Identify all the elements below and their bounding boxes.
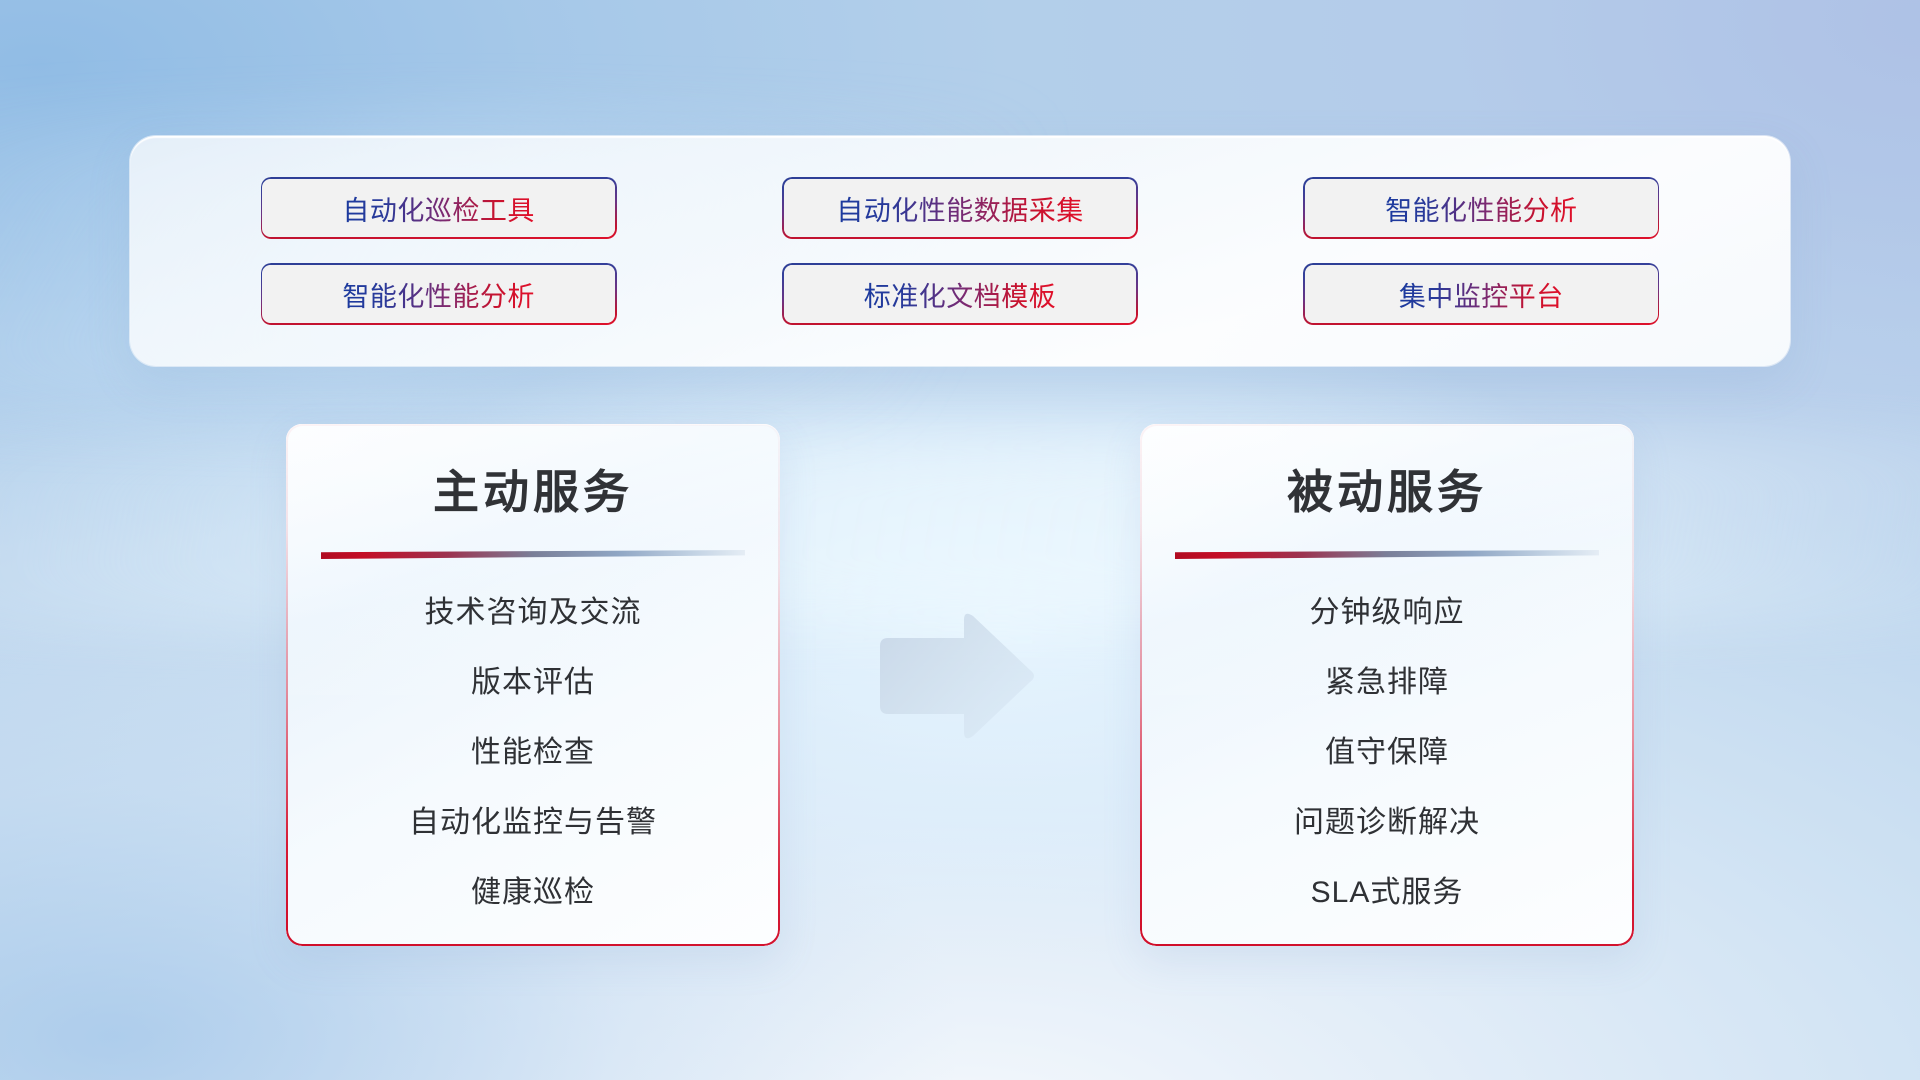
capability-pill-label: 智能化性能分析 [342, 275, 535, 314]
capability-pill[interactable]: 自动化性能数据采集 [782, 177, 1138, 239]
capability-pill[interactable]: 智能化性能分析 [1303, 177, 1659, 239]
capability-pill[interactable]: 标准化文档模板 [782, 263, 1138, 325]
capability-pill[interactable]: 自动化巡检工具 [261, 177, 617, 239]
capabilities-panel: 自动化巡检工具 智能化性能分析 自动化性能数据采集 标准化文档模板 智能化性能分… [130, 136, 1790, 366]
card-list-item: 自动化监控与告警 [409, 797, 657, 841]
card-title: 主动服务 [286, 456, 780, 522]
card-list-item: 技术咨询及交流 [425, 587, 642, 631]
card-list-item: SLA式服务 [1311, 867, 1464, 911]
card-list-item: 健康巡检 [471, 867, 595, 911]
card-list-item: 值守保障 [1325, 727, 1449, 771]
capability-pill-label: 智能化性能分析 [1385, 189, 1578, 228]
card-title: 被动服务 [1140, 456, 1634, 522]
capability-pill[interactable]: 集中监控平台 [1303, 263, 1659, 325]
card-list-item: 紧急排障 [1325, 657, 1449, 701]
arrow-right-icon [872, 608, 1038, 744]
card-divider [1175, 550, 1599, 559]
capabilities-column-1: 自动化巡检工具 智能化性能分析 [261, 177, 617, 325]
card-item-list: 分钟级响应 紧急排障 值守保障 问题诊断解决 SLA式服务 [1140, 587, 1634, 911]
card-list-item: 版本评估 [471, 657, 595, 701]
capability-pill-label: 集中监控平台 [1399, 275, 1564, 314]
card-list-item: 性能检查 [471, 727, 595, 771]
capability-pill-label: 自动化性能数据采集 [836, 189, 1084, 228]
capability-pill-label: 自动化巡检工具 [342, 189, 535, 228]
capability-pill[interactable]: 智能化性能分析 [261, 263, 617, 325]
capabilities-column-3: 智能化性能分析 集中监控平台 [1303, 177, 1659, 325]
card-list-item: 分钟级响应 [1310, 587, 1465, 631]
card-divider [321, 550, 745, 559]
card-item-list: 技术咨询及交流 版本评估 性能检查 自动化监控与告警 健康巡检 [286, 587, 780, 911]
capability-pill-label: 标准化文档模板 [864, 275, 1057, 314]
service-card-passive[interactable]: 被动服务 分钟级响应 紧急排障 值守保障 问题诊断解决 SLA式服务 [1140, 424, 1634, 946]
service-card-active[interactable]: 主动服务 技术咨询及交流 版本评估 性能检查 自动化监控与告警 健康巡检 [286, 424, 780, 946]
capabilities-column-2: 自动化性能数据采集 标准化文档模板 [782, 177, 1138, 325]
card-list-item: 问题诊断解决 [1294, 797, 1480, 841]
